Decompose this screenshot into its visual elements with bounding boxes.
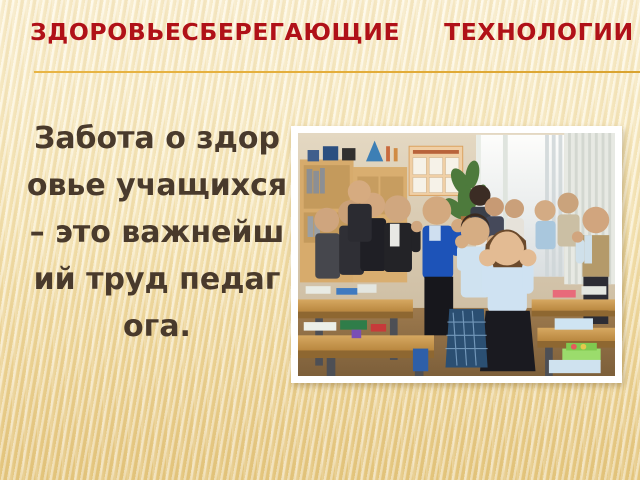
title-divider	[34, 71, 640, 73]
classroom-photo-illustration	[298, 133, 615, 376]
title-area: ЗДОРОВЬЕСБЕРЕГАЮЩИЕ ТЕХНОЛОГИИ	[0, 0, 640, 76]
page-title: ЗДОРОВЬЕСБЕРЕГАЮЩИЕ ТЕХНОЛОГИИ	[30, 17, 620, 47]
slide: ЗДОРОВЬЕСБЕРЕГАЮЩИЕ ТЕХНОЛОГИИ Забота о …	[0, 0, 640, 480]
photo-frame	[291, 126, 622, 383]
classroom-photo	[298, 133, 615, 376]
body-text: Забота о здоровье учащихся – это важнейш…	[24, 115, 290, 350]
